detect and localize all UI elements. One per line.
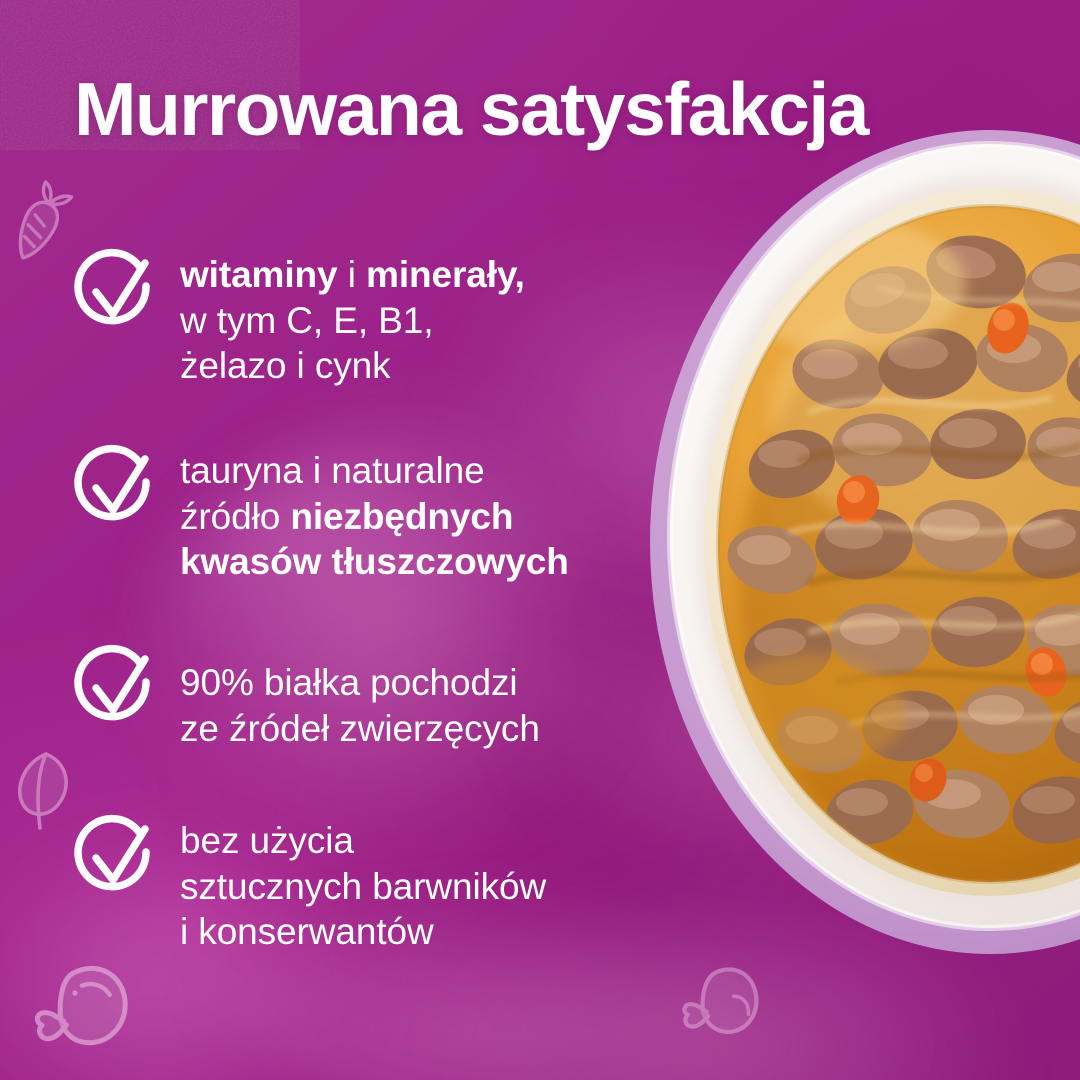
benefit-item-taurine: tauryna i naturalne źródło niezbędnych k… <box>68 442 569 585</box>
benefit-text-part: witaminy <box>180 254 338 295</box>
check-circle-icon <box>68 442 160 534</box>
drumstick-icon <box>22 952 142 1068</box>
benefit-text: 90% białka pochodzi ze źródeł zwierzęcyc… <box>180 642 540 751</box>
page-title: Murrowana satysfakcja <box>74 68 868 150</box>
benefit-text-part: sztucznych barwników <box>180 866 546 907</box>
check-circle-icon <box>68 246 160 338</box>
carrot-icon <box>6 172 76 270</box>
benefit-text-part: niezbędnych <box>290 496 513 537</box>
check-circle-icon <box>68 812 160 904</box>
benefit-item-protein: 90% białka pochodzi ze źródeł zwierzęcyc… <box>68 642 540 751</box>
benefit-text-part: tauryna i naturalne <box>180 450 485 491</box>
cat-food-bowl-image <box>660 112 1080 992</box>
benefit-item-no-additives: bez użycia sztucznych barwników i konser… <box>68 812 546 955</box>
benefit-text-part: minerały, <box>366 254 525 295</box>
benefit-text: bez użycia sztucznych barwników i konser… <box>180 812 546 955</box>
benefit-text-part: żelazo i cynk <box>180 345 391 386</box>
benefit-text-part: 90% białka pochodzi <box>180 662 518 703</box>
benefit-text-part: źródło <box>180 496 290 537</box>
benefit-text: tauryna i naturalne źródło niezbędnych k… <box>180 442 569 585</box>
check-circle-icon <box>68 642 160 734</box>
benefit-text-part: bez użycia <box>180 820 354 861</box>
benefit-text-part: ze źródeł zwierzęcych <box>180 708 540 749</box>
benefit-text-part: kwasów tłuszczowych <box>180 541 569 582</box>
poster-canvas: Murrowana satysfakcja witaminy i minerał… <box>0 0 1080 1080</box>
benefit-text: witaminy i minerały, w tym C, E, B1, żel… <box>180 246 525 389</box>
benefit-text-part: i konserwantów <box>180 911 434 952</box>
benefit-text-part: i <box>338 254 366 295</box>
benefit-item-vitamins: witaminy i minerały, w tym C, E, B1, żel… <box>68 246 525 389</box>
benefit-text-part: w tym C, E, B1, <box>180 300 433 341</box>
